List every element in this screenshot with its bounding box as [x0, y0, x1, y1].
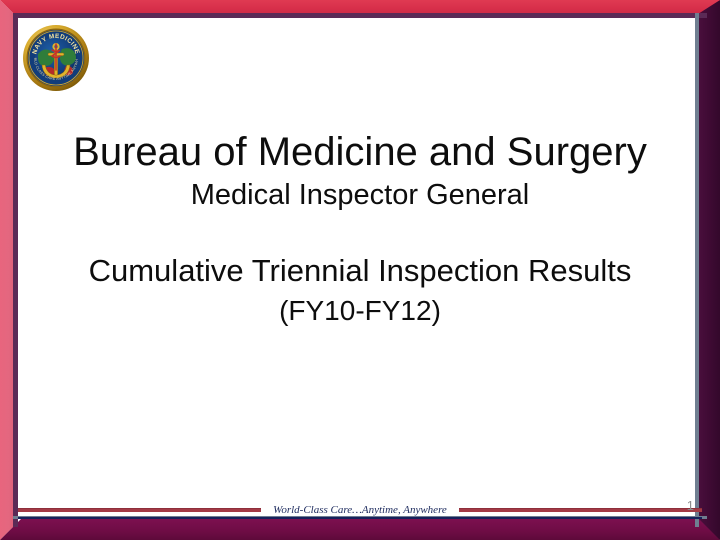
slide-title-period: (FY10-FY12) [18, 292, 702, 330]
slide-title-subtitle: Medical Inspector General [18, 176, 702, 214]
slide-title-topic: Cumulative Triennial Inspection Results [18, 250, 702, 292]
title-spacer [18, 214, 702, 250]
navy-medicine-seal-logo: NAVY MEDICINE WORLD CLASS CARE ANYTIME A… [22, 24, 90, 92]
frame-border-top [0, 0, 720, 14]
frame-border-left [0, 0, 14, 540]
slide-footer: World-Class Care…Anytime, Anywhere 1 [18, 498, 702, 524]
page-number: 1 [687, 498, 694, 513]
footer-rule-left [18, 508, 261, 512]
footer-tagline-row: World-Class Care…Anytime, Anywhere [18, 502, 702, 518]
slide-title-main: Bureau of Medicine and Surgery [18, 128, 702, 176]
footer-rule-right [459, 508, 702, 512]
footer-navy-rule [18, 517, 702, 519]
slide-title-block: Bureau of Medicine and Surgery Medical I… [18, 128, 702, 330]
presentation-slide: NAVY MEDICINE WORLD CLASS CARE ANYTIME A… [0, 0, 720, 540]
frame-keyline-top [13, 13, 707, 18]
navy-medicine-seal-icon: NAVY MEDICINE WORLD CLASS CARE ANYTIME A… [22, 24, 90, 92]
footer-tagline: World-Class Care…Anytime, Anywhere [269, 504, 451, 516]
